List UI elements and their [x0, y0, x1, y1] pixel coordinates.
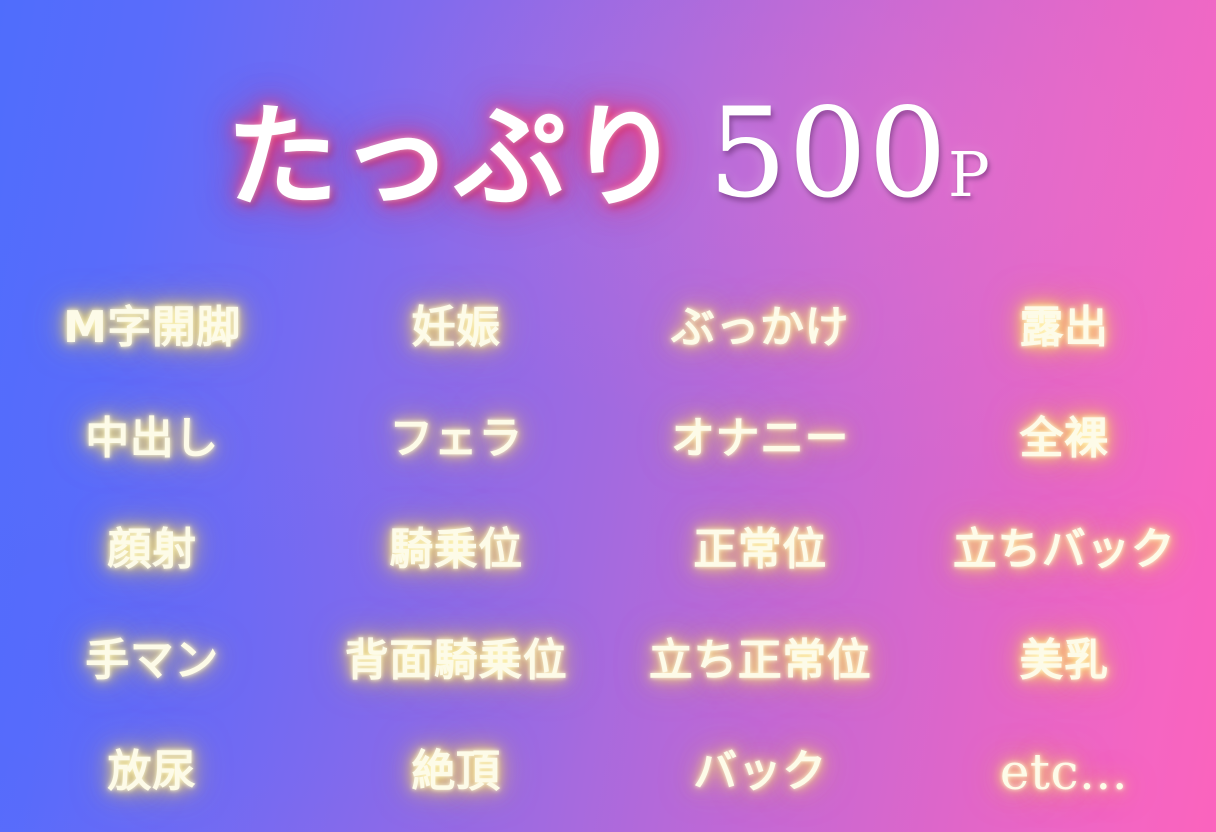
tag-label: バック — [693, 750, 827, 794]
tag-cell: 背面騎乗位 — [304, 605, 608, 716]
tag-label: 中出し — [85, 417, 219, 461]
banner-title: たっぷり500P — [0, 92, 1216, 216]
tag-label: 露出 — [1020, 306, 1109, 350]
tag-label: 立ち正常位 — [649, 639, 872, 683]
tag-label: フェラ — [389, 417, 523, 461]
tag-label: 立ちバック — [953, 528, 1176, 572]
tag-label: 顔射 — [108, 528, 197, 572]
banner-content: たっぷり500P M字開脚 妊娠 ぶっかけ 露出 中出し フェラ オナニー 全裸… — [0, 0, 1216, 832]
tag-label: etc... — [1000, 747, 1128, 797]
tag-cell: etc... — [912, 716, 1216, 827]
tag-cell: 美乳 — [912, 605, 1216, 716]
tag-label: M字開脚 — [63, 306, 241, 350]
tag-label: 騎乗位 — [389, 528, 523, 572]
tag-label: 絶頂 — [412, 750, 501, 794]
tag-label: オナニー — [671, 417, 849, 461]
tag-cell: 立ち正常位 — [608, 605, 912, 716]
tag-grid: M字開脚 妊娠 ぶっかけ 露出 中出し フェラ オナニー 全裸 顔射 騎乗位 正… — [0, 272, 1216, 827]
promo-banner: たっぷり500P M字開脚 妊娠 ぶっかけ 露出 中出し フェラ オナニー 全裸… — [0, 0, 1216, 832]
tag-cell: 立ちバック — [912, 494, 1216, 605]
tag-cell: 騎乗位 — [304, 494, 608, 605]
tag-label: 放尿 — [108, 750, 197, 794]
tag-label: 妊娠 — [412, 306, 501, 350]
tag-cell: 手マン — [0, 605, 304, 716]
tag-label: 正常位 — [693, 528, 827, 572]
tag-label: 手マン — [85, 639, 219, 683]
tag-cell: 全裸 — [912, 383, 1216, 494]
tag-cell: 絶頂 — [304, 716, 608, 827]
tag-cell: ぶっかけ — [608, 272, 912, 383]
tag-cell: 放尿 — [0, 716, 304, 827]
tag-cell: 中出し — [0, 383, 304, 494]
title-japanese-text: たっぷり — [226, 93, 682, 223]
tag-label: 背面騎乗位 — [345, 639, 568, 683]
tag-cell: 露出 — [912, 272, 1216, 383]
tag-cell: M字開脚 — [0, 272, 304, 383]
tag-cell: オナニー — [608, 383, 912, 494]
tag-label: 全裸 — [1020, 417, 1109, 461]
tag-cell: 妊娠 — [304, 272, 608, 383]
tag-label: 美乳 — [1020, 639, 1109, 683]
tag-label: ぶっかけ — [671, 306, 849, 350]
tag-cell: 顔射 — [0, 494, 304, 605]
tag-cell: 正常位 — [608, 494, 912, 605]
tag-cell: バック — [608, 716, 912, 827]
tag-cell: フェラ — [304, 383, 608, 494]
title-amount: 500 — [708, 82, 948, 226]
title-unit: P — [948, 138, 990, 211]
